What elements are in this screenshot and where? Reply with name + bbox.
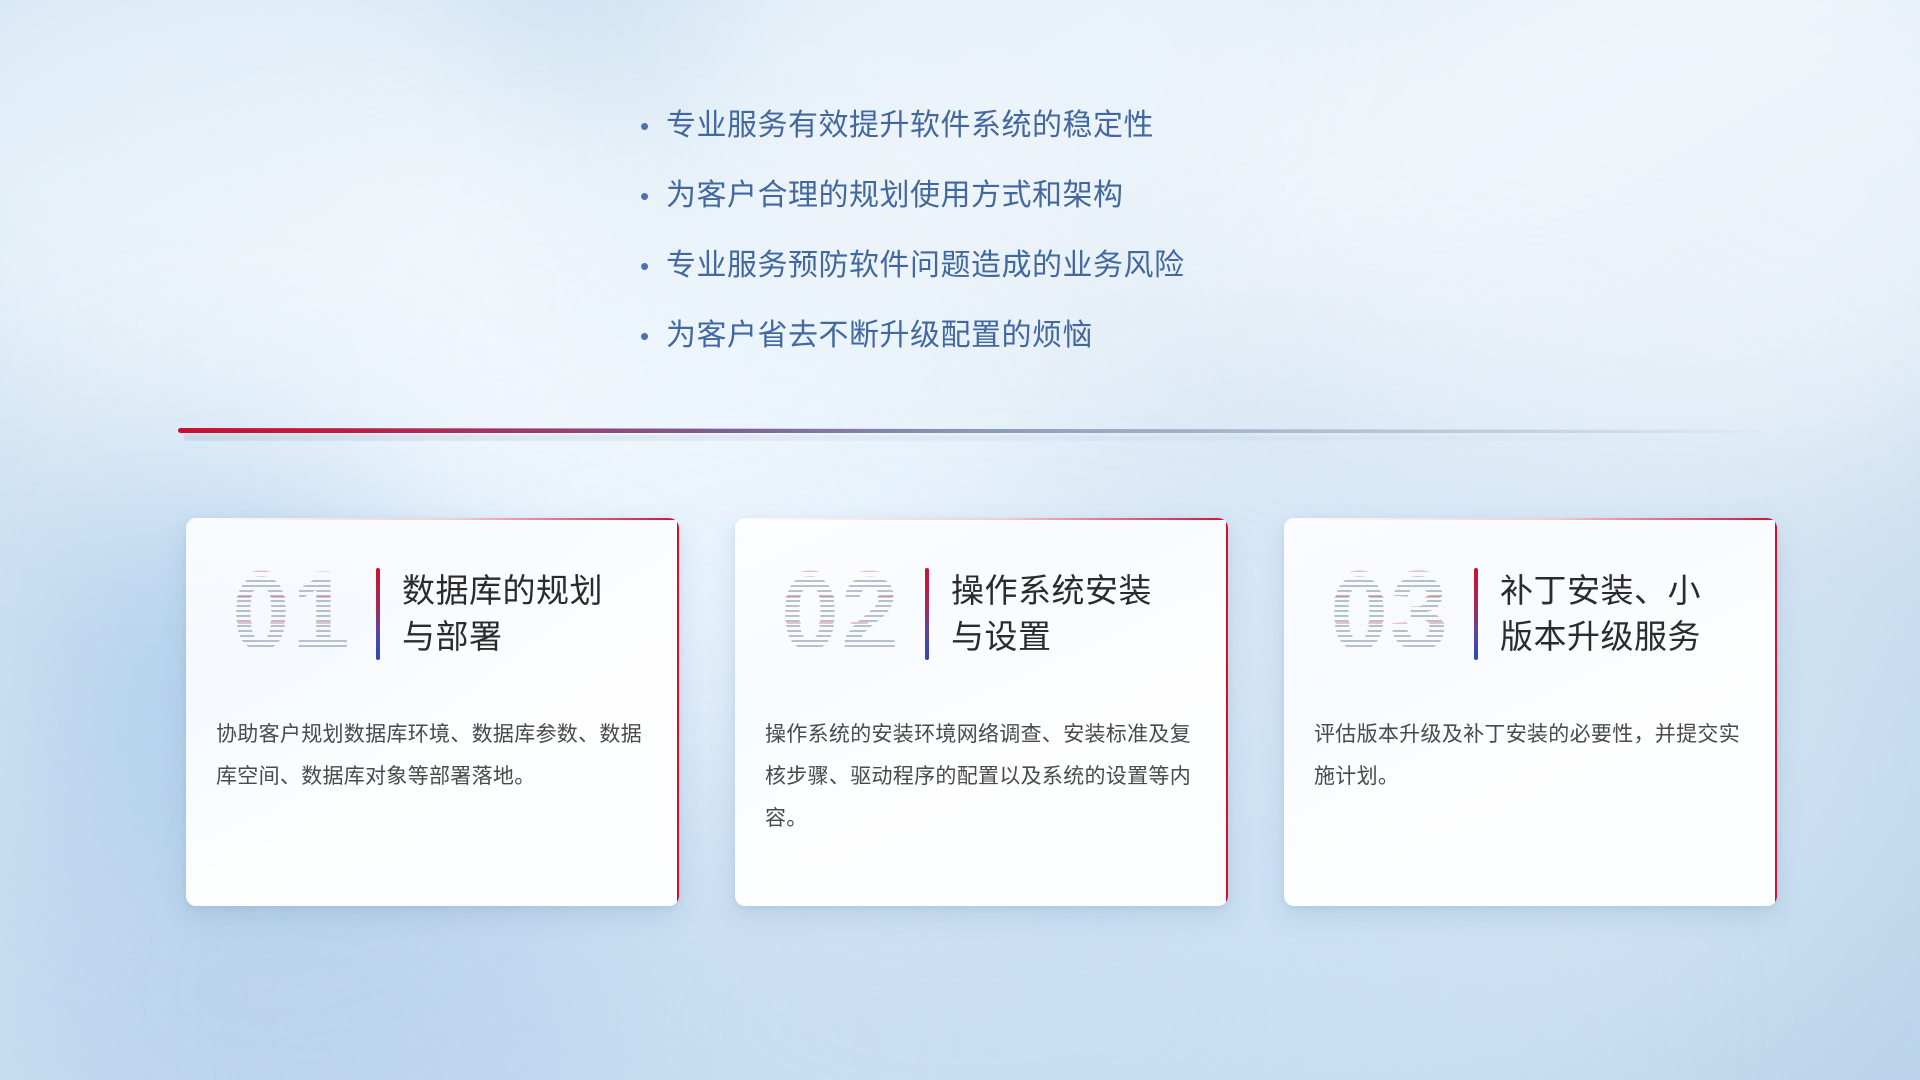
bullet-text: 为客户合理的规划使用方式和架构 <box>666 176 1124 216</box>
service-card[interactable]: 02 02 操作系统安装 与设置 操作系统的安装环境网络调查、安装标准及复核步骤… <box>735 518 1228 906</box>
card-header: 02 02 操作系统安装 与设置 <box>735 544 1228 684</box>
card-title-line2: 与部署 <box>402 614 603 660</box>
card-top-accent <box>186 518 679 520</box>
list-item: • 为客户合理的规划使用方式和架构 <box>640 176 1420 216</box>
card-title-line1: 数据库的规划 <box>402 568 603 614</box>
divider-shadow <box>184 434 1768 441</box>
card-number-watermark: 02 <box>761 550 921 678</box>
card-title: 数据库的规划 与部署 <box>402 568 619 660</box>
bullet-dot-icon: • <box>640 106 666 146</box>
service-card-group: 01 01 数据库的规划 与部署 协助客户规划数据库环境、数据库参数、数据库空间… <box>0 518 1920 938</box>
service-card[interactable]: 03 03 补丁安装、小 版本升级服务 评估版本升级及补丁安装的必要性，并提交实… <box>1284 518 1777 906</box>
bullet-dot-icon: • <box>640 246 666 286</box>
card-accent-bar <box>1474 568 1478 660</box>
bullet-text: 专业服务有效提升软件系统的稳定性 <box>666 106 1154 146</box>
card-description: 操作系统的安装环境网络调查、安装标准及复核步骤、驱动程序的配置以及系统的设置等内… <box>765 714 1195 840</box>
card-number-watermark: 03 <box>1310 550 1470 678</box>
card-header: 01 01 数据库的规划 与部署 <box>186 544 679 684</box>
bullet-dot-icon: • <box>640 316 666 356</box>
bullet-dot-icon: • <box>640 176 666 216</box>
divider-line <box>178 428 1778 433</box>
card-accent-bar <box>376 568 380 660</box>
card-title-line1: 操作系统安装 <box>951 568 1152 614</box>
card-description: 评估版本升级及补丁安装的必要性，并提交实施计划。 <box>1314 714 1744 798</box>
card-top-accent <box>1284 518 1777 520</box>
card-title: 补丁安装、小 版本升级服务 <box>1500 568 1717 660</box>
section-divider <box>178 424 1778 446</box>
service-card[interactable]: 01 01 数据库的规划 与部署 协助客户规划数据库环境、数据库参数、数据库空间… <box>186 518 679 906</box>
card-title-line2: 版本升级服务 <box>1500 614 1701 660</box>
card-title-line1: 补丁安装、小 <box>1500 568 1701 614</box>
list-item: • 为客户省去不断升级配置的烦恼 <box>640 316 1420 356</box>
card-number-watermark: 01 <box>212 550 372 678</box>
bullet-text: 为客户省去不断升级配置的烦恼 <box>666 316 1093 356</box>
card-top-accent <box>735 518 1228 520</box>
card-title: 操作系统安装 与设置 <box>951 568 1168 660</box>
card-description: 协助客户规划数据库环境、数据库参数、数据库空间、数据库对象等部署落地。 <box>216 714 646 798</box>
benefits-bullet-list: • 专业服务有效提升软件系统的稳定性 • 为客户合理的规划使用方式和架构 • 专… <box>640 106 1420 386</box>
bullet-text: 专业服务预防软件问题造成的业务风险 <box>666 246 1185 286</box>
card-accent-bar <box>925 568 929 660</box>
card-header: 03 03 补丁安装、小 版本升级服务 <box>1284 544 1777 684</box>
list-item: • 专业服务预防软件问题造成的业务风险 <box>640 246 1420 286</box>
card-title-line2: 与设置 <box>951 614 1152 660</box>
list-item: • 专业服务有效提升软件系统的稳定性 <box>640 106 1420 146</box>
